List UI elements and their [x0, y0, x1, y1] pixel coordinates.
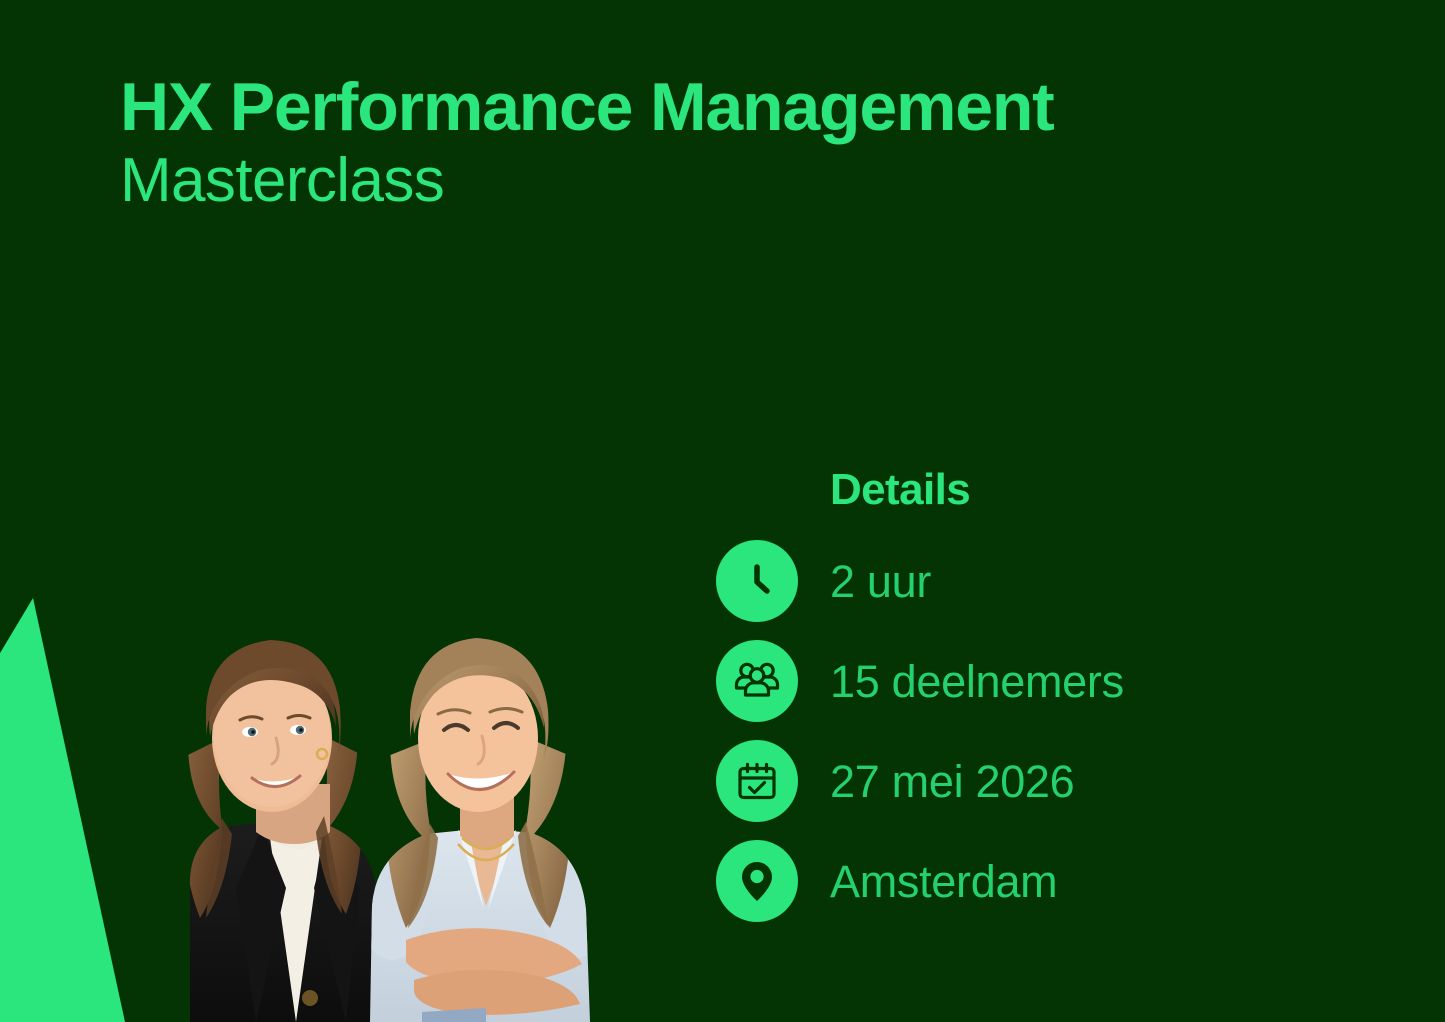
presenters-photo	[70, 588, 600, 1022]
detail-label-participants: 15 deelnemers	[830, 659, 1124, 704]
detail-label-duration: 2 uur	[830, 559, 931, 604]
detail-row: Amsterdam	[716, 840, 1336, 922]
details-heading: Details	[830, 468, 1336, 512]
detail-row: 15 deelnemers	[716, 640, 1336, 722]
headline-block: HX Performance Management Masterclass	[120, 72, 1300, 216]
page-subtitle: Masterclass	[120, 147, 1300, 215]
detail-label-location: Amsterdam	[830, 859, 1057, 904]
details-panel: Details 2 uur	[716, 468, 1336, 940]
detail-row: 27 mei 2026	[716, 740, 1336, 822]
detail-label-date: 27 mei 2026	[830, 759, 1074, 804]
clock-icon	[716, 540, 798, 622]
location-pin-icon	[716, 840, 798, 922]
calendar-icon	[716, 740, 798, 822]
people-icon	[716, 640, 798, 722]
masterclass-promo-card: HX Performance Management Masterclass De…	[0, 0, 1445, 1022]
detail-row: 2 uur	[716, 540, 1336, 622]
page-title: HX Performance Management	[120, 72, 1300, 143]
arrow-wedge-decoration	[0, 560, 260, 1022]
